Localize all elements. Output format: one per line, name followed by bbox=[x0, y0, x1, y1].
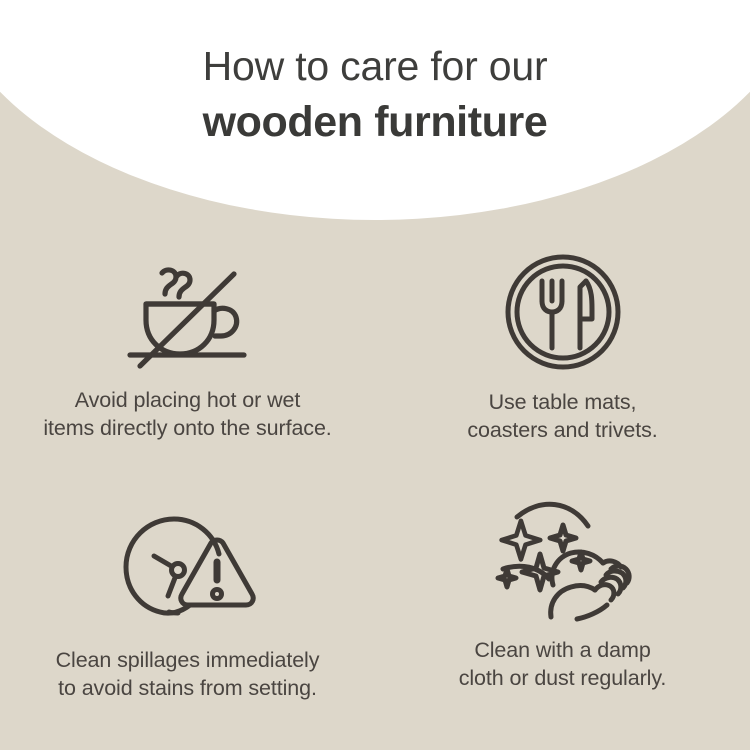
plate-fork-knife-icon bbox=[488, 248, 638, 376]
care-tip-item: Use table mats, coasters and trivets. bbox=[375, 232, 750, 480]
caption-line-1: Avoid placing hot or wet bbox=[75, 388, 300, 412]
caption-line-2: cloth or dust regularly. bbox=[459, 666, 667, 690]
title-line-2: wooden furniture bbox=[0, 94, 750, 150]
caption-line-1: Clean spillages immediately bbox=[56, 648, 320, 672]
care-tip-item: Avoid placing hot or wet items directly … bbox=[0, 232, 375, 480]
care-tips-grid: Avoid placing hot or wet items directly … bbox=[0, 232, 750, 750]
caption-line-2: coasters and trivets. bbox=[467, 418, 657, 442]
care-tip-caption: Use table mats, coasters and trivets. bbox=[383, 388, 743, 444]
care-tip-item: Clean spillages immediately to avoid sta… bbox=[0, 480, 375, 728]
care-tip-caption: Avoid placing hot or wet items directly … bbox=[8, 386, 368, 442]
caption-line-1: Clean with a damp bbox=[474, 638, 650, 662]
care-tip-item: Clean with a damp cloth or dust regularl… bbox=[375, 480, 750, 728]
caption-line-2: items directly onto the surface. bbox=[43, 416, 331, 440]
caption-line-1: Use table mats, bbox=[489, 390, 637, 414]
care-tip-caption: Clean spillages immediately to avoid sta… bbox=[8, 646, 368, 702]
page-title: How to care for our wooden furniture bbox=[0, 38, 750, 150]
hand-cloth-sparkle-icon bbox=[488, 492, 638, 620]
clock-warning-icon bbox=[113, 502, 263, 630]
no-hot-drink-icon bbox=[113, 246, 263, 374]
infographic-poster: How to care for our wooden furniture bbox=[0, 0, 750, 750]
caption-line-2: to avoid stains from setting. bbox=[58, 676, 317, 700]
header-section: How to care for our wooden furniture bbox=[0, 0, 750, 230]
title-line-1: How to care for our bbox=[0, 38, 750, 94]
care-tip-caption: Clean with a damp cloth or dust regularl… bbox=[383, 636, 743, 692]
